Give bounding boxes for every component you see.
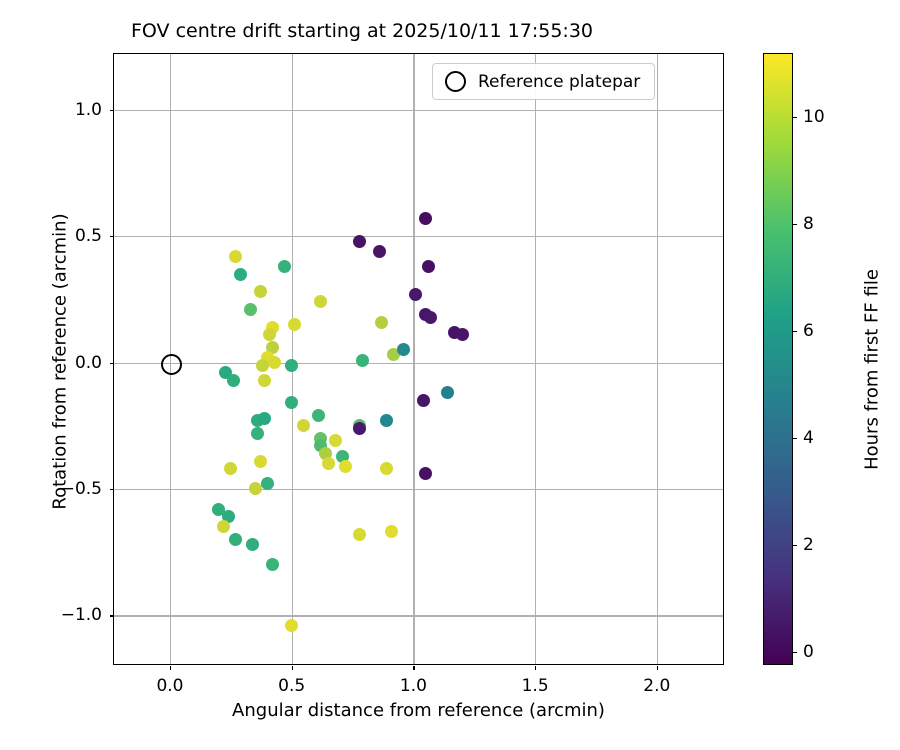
colorbar-tick-label: 8 — [803, 214, 814, 234]
colorbar-tick-label: 6 — [803, 321, 814, 341]
x-axis-label: Angular distance from reference (arcmin) — [113, 700, 724, 721]
data-point — [227, 374, 240, 387]
data-point — [258, 412, 271, 425]
data-point — [422, 260, 435, 273]
legend[interactable]: Reference platepar — [432, 63, 655, 100]
data-point — [314, 295, 327, 308]
scatter-figure: FOV centre drift starting at 2025/10/11 … — [0, 0, 900, 750]
data-point — [217, 520, 230, 533]
reference-platepar-marker-icon — [445, 71, 466, 92]
data-point — [297, 419, 310, 432]
data-point — [353, 528, 366, 541]
x-tick-mark — [413, 666, 414, 670]
x-tick-mark — [657, 666, 658, 670]
plot-area: Reference platepar 0.00.51.01.52.0−1.0−0… — [113, 53, 724, 665]
colorbar-tick-label: 4 — [803, 428, 814, 448]
x-tick-mark — [535, 666, 536, 670]
y-tick-mark — [110, 236, 114, 237]
data-point — [353, 235, 366, 248]
data-point — [258, 374, 271, 387]
data-point — [261, 477, 274, 490]
data-point — [353, 422, 366, 435]
colorbar-label: Hours from first FF file — [862, 64, 883, 676]
data-point — [268, 356, 281, 369]
colorbar-tick-label: 0 — [803, 642, 814, 662]
colorbar-tick-mark — [793, 224, 797, 225]
x-tick-label: 2.0 — [643, 676, 670, 696]
data-point — [234, 268, 247, 281]
data-point — [339, 460, 352, 473]
data-point — [356, 354, 369, 367]
x-tick-label: 0.5 — [278, 676, 305, 696]
colorbar-tick-label: 2 — [803, 535, 814, 555]
data-point — [419, 212, 432, 225]
y-tick-label: 0.0 — [75, 353, 102, 373]
data-point — [424, 311, 437, 324]
colorbar-tick-mark — [793, 438, 797, 439]
x-tick-label: 0.0 — [156, 676, 183, 696]
y-tick-mark — [110, 489, 114, 490]
data-point — [285, 359, 298, 372]
page-title: FOV centre drift starting at 2025/10/11 … — [0, 20, 724, 42]
data-point — [397, 343, 410, 356]
data-points-layer — [114, 54, 723, 664]
y-tick-mark — [110, 110, 114, 111]
reference-platepar-point — [161, 354, 182, 375]
y-tick-label: 1.0 — [75, 100, 102, 120]
data-point — [266, 558, 279, 571]
y-tick-label: 0.5 — [75, 226, 102, 246]
data-point — [244, 303, 257, 316]
data-point — [254, 455, 267, 468]
legend-entry-label: Reference platepar — [478, 72, 640, 92]
data-point — [288, 318, 301, 331]
x-tick-label: 1.0 — [400, 676, 427, 696]
data-point — [419, 467, 432, 480]
data-point — [417, 394, 430, 407]
data-point — [373, 245, 386, 258]
data-point — [229, 533, 242, 546]
y-axis-label: Rotation from reference (arcmin) — [50, 56, 71, 668]
data-point — [229, 250, 242, 263]
data-point — [278, 260, 291, 273]
data-point — [322, 457, 335, 470]
colorbar-tick-mark — [793, 652, 797, 653]
data-point — [263, 328, 276, 341]
data-point — [441, 386, 454, 399]
colorbar-tick-mark — [793, 331, 797, 332]
data-point — [254, 285, 267, 298]
data-point — [256, 359, 269, 372]
data-point — [251, 427, 264, 440]
x-tick-label: 1.5 — [522, 676, 549, 696]
y-tick-mark — [110, 615, 114, 616]
colorbar: 0246810 — [763, 53, 793, 665]
data-point — [329, 434, 342, 447]
y-tick-mark — [110, 363, 114, 364]
data-point — [224, 462, 237, 475]
colorbar-gradient — [763, 53, 793, 665]
x-tick-mark — [170, 666, 171, 670]
data-point — [246, 538, 259, 551]
data-point — [456, 328, 469, 341]
data-point — [409, 288, 422, 301]
colorbar-tick-label: 10 — [803, 107, 825, 127]
x-tick-mark — [292, 666, 293, 670]
data-point — [385, 525, 398, 538]
data-point — [380, 462, 393, 475]
colorbar-tick-mark — [793, 545, 797, 546]
data-point — [312, 409, 325, 422]
data-point — [380, 414, 393, 427]
colorbar-tick-mark — [793, 117, 797, 118]
data-point — [375, 316, 388, 329]
data-point — [285, 619, 298, 632]
data-point — [285, 396, 298, 409]
data-point — [249, 482, 262, 495]
